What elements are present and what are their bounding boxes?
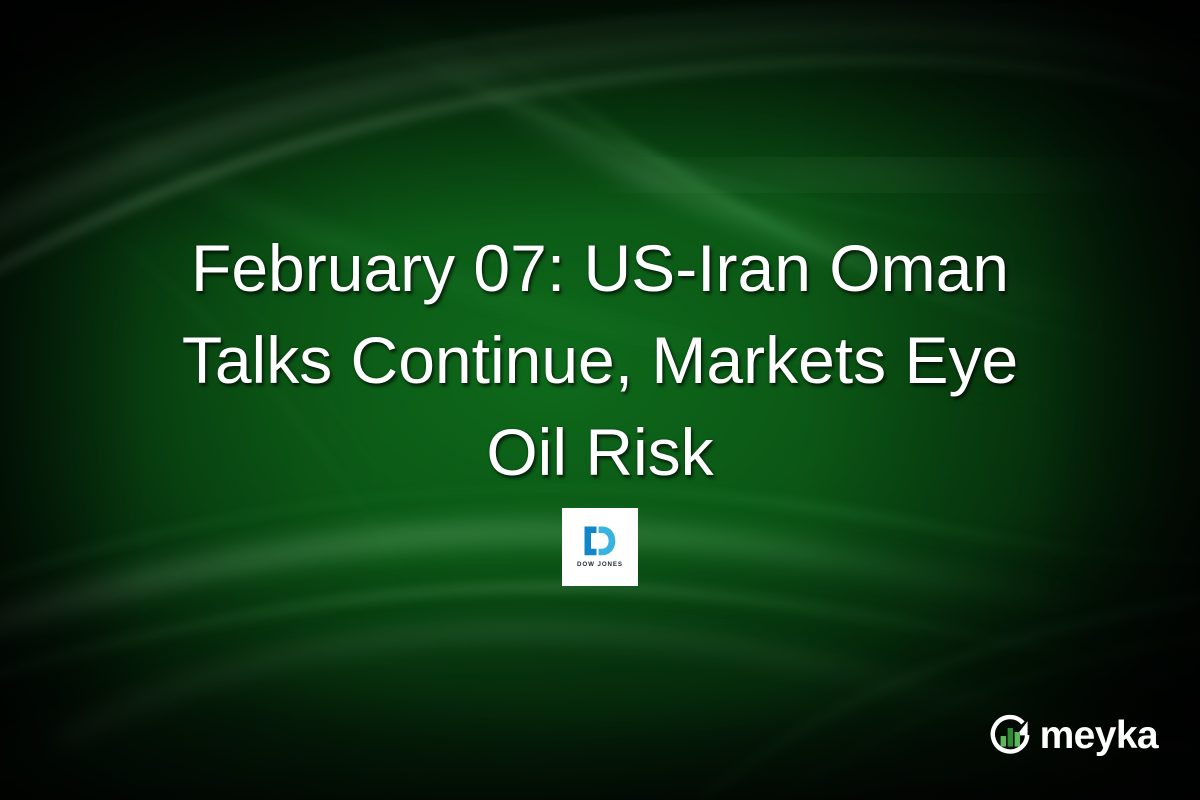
brand-name: meyka (1040, 716, 1158, 755)
dow-jones-d-icon (583, 525, 617, 557)
dow-jones-wordmark: DOW JONES (577, 562, 623, 568)
source-logo-card: DOW JONES (562, 508, 638, 586)
page-title: February 07: US-Iran Oman Talks Continue… (0, 222, 1200, 498)
news-card: February 07: US-Iran Oman Talks Continue… (0, 0, 1200, 800)
brand-logo: meyka (987, 712, 1158, 758)
meyka-ring-bars-icon (987, 712, 1033, 758)
